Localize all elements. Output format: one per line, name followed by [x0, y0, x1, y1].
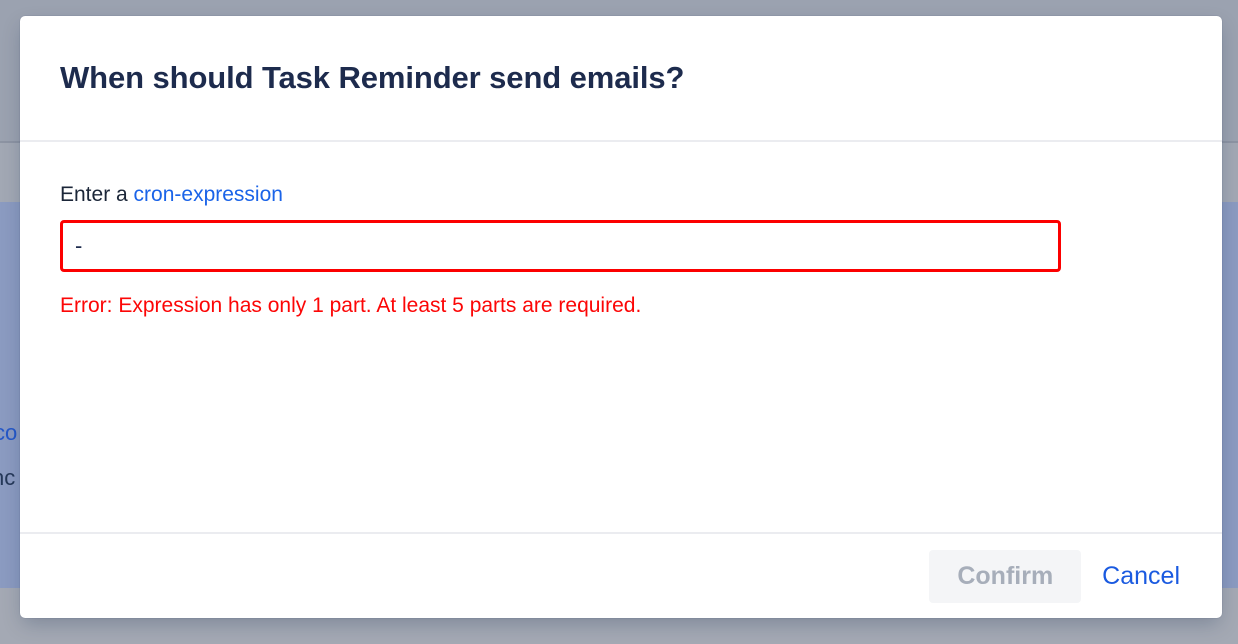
background-link-fragment: co: [0, 420, 17, 446]
page-title: When should Task Reminder send emails?: [60, 59, 684, 96]
cron-field-label: Enter a cron-expression: [60, 182, 1182, 207]
dialog-header: When should Task Reminder send emails?: [20, 16, 1222, 140]
dialog-footer: Confirm Cancel: [20, 534, 1222, 618]
validation-error-message: Error: Expression has only 1 part. At le…: [60, 293, 1182, 318]
cron-expression-link[interactable]: cron-expression: [134, 183, 283, 206]
background-text-fragment: nc: [0, 465, 15, 491]
cron-field-label-static: Enter a: [60, 183, 134, 206]
confirm-button[interactable]: Confirm: [929, 550, 1081, 603]
cron-expression-dialog: When should Task Reminder send emails? E…: [20, 16, 1222, 618]
dialog-body: Enter a cron-expression Error: Expressio…: [20, 142, 1222, 532]
cron-expression-input[interactable]: [60, 220, 1061, 272]
cancel-button[interactable]: Cancel: [1098, 558, 1184, 595]
